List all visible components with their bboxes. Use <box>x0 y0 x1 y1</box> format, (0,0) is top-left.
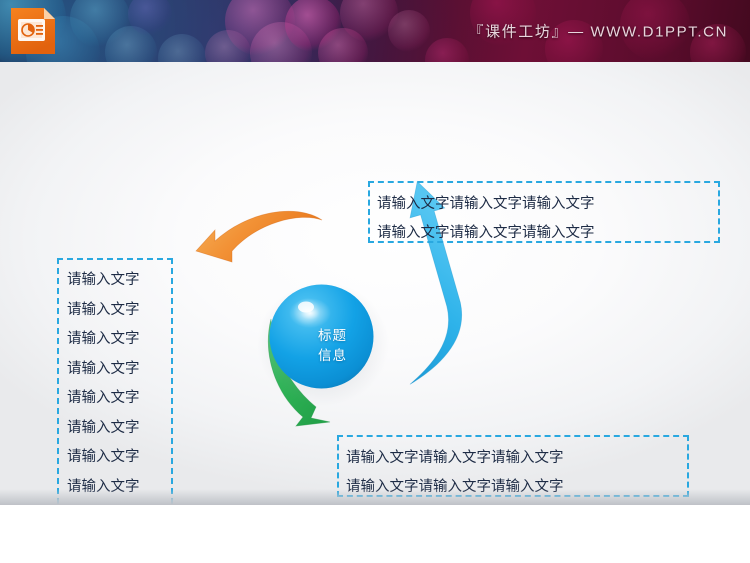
bokeh-circle <box>318 28 368 62</box>
top-right-box-line: 请输入文字请输入文字请输入文字 <box>377 190 718 219</box>
left-box-line: 请输入文字 <box>67 296 171 326</box>
bokeh-circle <box>70 0 130 48</box>
bokeh-circle <box>340 0 398 42</box>
powerpoint-document-icon[interactable] <box>8 6 58 56</box>
bokeh-circle <box>225 0 295 56</box>
left-box-line: 请输入文字 <box>67 414 171 444</box>
bokeh-circle <box>128 0 172 36</box>
top-right-box-line: 请输入文字请输入文字请输入文字 <box>377 219 718 248</box>
left-box-line: 请输入文字 <box>67 355 171 385</box>
left-box-line: 请输入文字 <box>67 473 171 503</box>
left-text-box[interactable]: 请输入文字 请输入文字 请输入文字 请输入文字 请输入文字 请输入文字 请输入文… <box>57 258 173 524</box>
bokeh-circle <box>285 0 341 52</box>
slide-canvas: 标题 信息 请输入文字 请输入文字 请输入文字 请输入文字 请输入文字 请输入文… <box>0 62 750 505</box>
left-box-line: 请输入文字 <box>67 384 171 414</box>
left-box-line: 请输入文字 <box>67 325 171 355</box>
footer-bar: 课件工坊 HTTP://WWW.D1PPT.CN <box>0 505 750 563</box>
left-box-line: 请输入文字 <box>67 266 171 296</box>
bottom-right-box-line: 请输入文字请输入文字请输入文字 <box>346 444 687 473</box>
bottom-right-box-line: 请输入文字请输入文字请输入文字 <box>346 473 687 502</box>
bokeh-circle <box>205 30 251 62</box>
bokeh-circle <box>105 26 157 62</box>
bokeh-circle <box>250 22 312 62</box>
bottom-right-text-box[interactable]: 请输入文字请输入文字请输入文字 请输入文字请输入文字请输入文字 <box>337 435 689 497</box>
header-title: 『课件工坊』— WWW.D1PPT.CN <box>469 21 729 42</box>
sphere-shape <box>268 283 375 390</box>
center-node[interactable]: 标题 信息 <box>268 283 375 390</box>
orange-curved-arrow <box>196 211 322 262</box>
bokeh-circle <box>425 38 469 62</box>
bokeh-circle <box>388 10 430 52</box>
header-banner: 『课件工坊』— WWW.D1PPT.CN <box>0 0 750 62</box>
slide-page: 『课件工坊』— WWW.D1PPT.CN <box>0 0 750 563</box>
bokeh-circle <box>158 34 206 62</box>
top-right-text-box[interactable]: 请输入文字请输入文字请输入文字 请输入文字请输入文字请输入文字 <box>368 181 720 243</box>
left-box-line: 请输入文字 <box>67 443 171 473</box>
